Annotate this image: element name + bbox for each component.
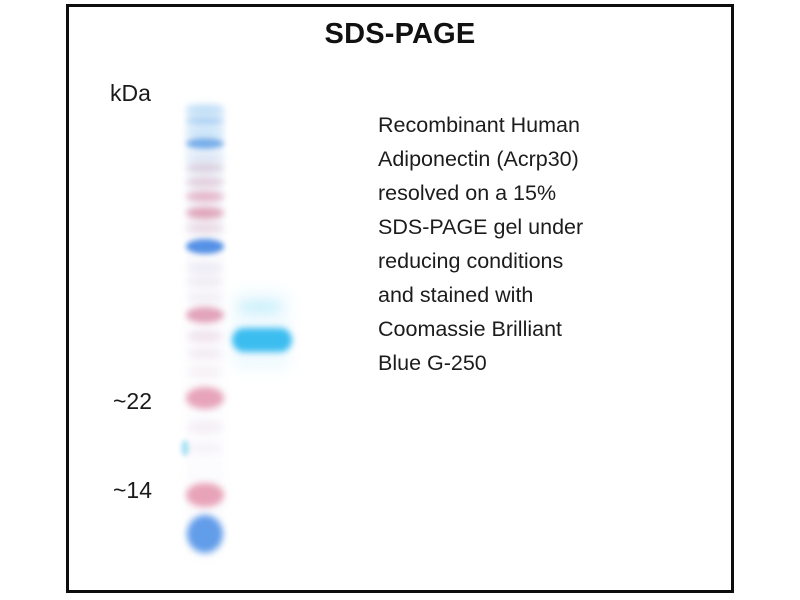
mw-marker-22: ~22 bbox=[113, 388, 152, 415]
ladder-band bbox=[186, 128, 224, 137]
kda-unit-label: kDa bbox=[110, 80, 151, 107]
ladder-band bbox=[186, 138, 224, 149]
ladder-band bbox=[187, 277, 223, 287]
gel-image bbox=[160, 95, 340, 565]
mw-marker-14: ~14 bbox=[113, 477, 152, 504]
figure-description: Recombinant Human Adiponectin (Acrp30) r… bbox=[378, 108, 650, 380]
ladder-band bbox=[186, 105, 224, 115]
sds-page-figure: SDS-PAGE kDa ~22 ~14 Recombinant Human A… bbox=[0, 0, 800, 600]
ladder-band bbox=[187, 367, 223, 377]
page-title: SDS-PAGE bbox=[66, 18, 734, 51]
ladder-band bbox=[187, 515, 223, 553]
ladder-faint-cyan-tick bbox=[181, 440, 189, 456]
ladder-band bbox=[186, 153, 224, 162]
ladder-band bbox=[187, 349, 223, 359]
ladder-band bbox=[187, 331, 223, 342]
ladder-band bbox=[186, 387, 224, 409]
ladder-band bbox=[187, 263, 223, 273]
ladder-band bbox=[186, 117, 224, 125]
ladder-band bbox=[186, 207, 224, 219]
ladder-band bbox=[187, 293, 223, 303]
ladder-band bbox=[186, 239, 224, 254]
ladder-band bbox=[186, 191, 224, 202]
sample-band-adiponectin bbox=[232, 328, 292, 352]
ladder-band bbox=[187, 421, 223, 433]
ladder-band bbox=[186, 163, 224, 173]
ladder-band bbox=[186, 483, 224, 507]
ladder-band bbox=[186, 223, 224, 233]
ladder-band bbox=[187, 443, 223, 453]
ladder-band bbox=[186, 307, 224, 323]
ladder-band bbox=[186, 177, 224, 187]
sample-band-smear bbox=[238, 300, 282, 314]
